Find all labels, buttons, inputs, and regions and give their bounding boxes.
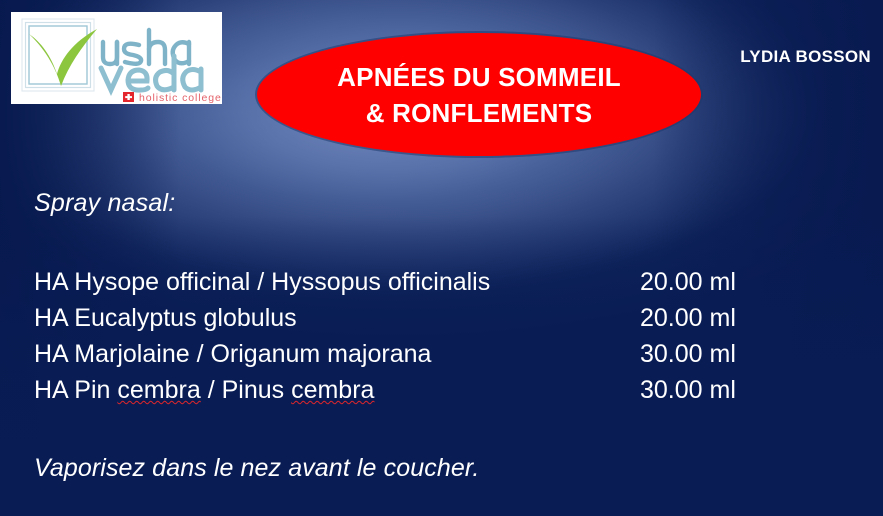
spellcheck-misspelled-word: cembra [291,376,374,404]
ingredient-row: HA Pin cembra / Pinus cembra 30.00 ml [34,372,853,408]
usha-veda-logo: holistic college [11,12,222,104]
section-heading: Spray nasal: [34,186,853,220]
logo-tagline: holistic college [139,92,222,104]
logo-container: holistic college [11,12,222,104]
ingredient-quantity: 30.00 ml [640,372,736,408]
ingredient-quantity: 20.00 ml [640,264,736,300]
slide-title-line-1: APNÉES DU SOMMEIL [337,59,621,95]
swiss-cross-icon [123,92,134,102]
ingredient-name-middle: / Pinus [201,376,291,404]
ingredient-row: HA Marjolaine / Origanum majorana 30.00 … [34,336,853,372]
presenter-name: LYDIA BOSSON [740,47,871,67]
ingredient-name: HA Eucalyptus globulus [34,300,640,336]
ingredient-name-prefix: HA Pin [34,376,117,404]
slide-title-banner: APNÉES DU SOMMEIL & RONFLEMENTS [257,33,701,156]
presentation-slide: holistic college APNÉES DU SOMMEIL & RON… [0,0,883,516]
ingredient-row: HA Hysope officinal / Hyssopus officinal… [34,264,853,300]
ingredient-name: HA Hysope officinal / Hyssopus officinal… [34,264,640,300]
usage-instruction: Vaporisez dans le nez avant le coucher. [34,451,853,485]
slide-title-line-2: & RONFLEMENTS [366,95,592,131]
ingredient-row: HA Eucalyptus globulus 20.00 ml [34,300,853,336]
ingredient-quantity: 30.00 ml [640,336,736,372]
ingredient-quantity: 20.00 ml [640,300,736,336]
slide-body: Spray nasal: HA Hysope officinal / Hysso… [34,186,853,506]
ingredient-name: HA Marjolaine / Origanum majorana [34,336,640,372]
ingredient-list: HA Hysope officinal / Hyssopus officinal… [34,264,853,408]
ingredient-name: HA Pin cembra / Pinus cembra [34,372,640,408]
spellcheck-misspelled-word: cembra [117,376,200,404]
